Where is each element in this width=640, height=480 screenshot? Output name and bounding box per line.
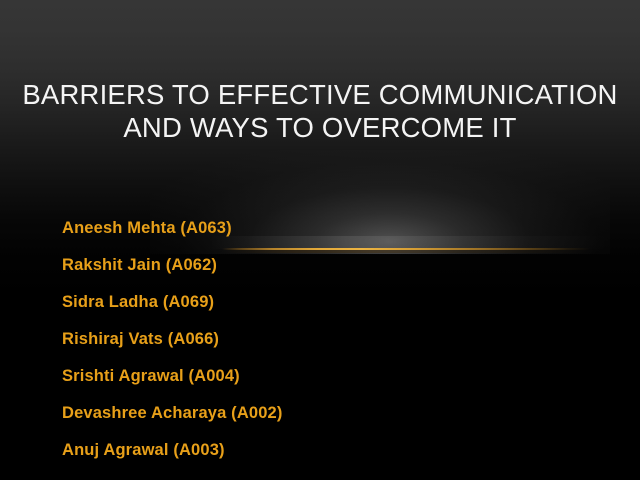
page-title-line-2: AND WAYS TO OVERCOME IT: [0, 111, 640, 144]
list-item: Aneesh Mehta (A063): [62, 210, 542, 247]
author-list: Aneesh Mehta (A063) Rakshit Jain (A062) …: [62, 210, 542, 469]
title-slide: BARRIERS TO EFFECTIVE COMMUNICATION AND …: [0, 0, 640, 480]
page-title-line-1: BARRIERS TO EFFECTIVE COMMUNICATION: [0, 78, 640, 111]
list-item: Sidra Ladha (A069): [62, 284, 542, 321]
list-item: Rakshit Jain (A062): [62, 247, 542, 284]
page-title: BARRIERS TO EFFECTIVE COMMUNICATION AND …: [0, 78, 640, 144]
list-item: Rishiraj Vats (A066): [62, 321, 542, 358]
list-item: Srishti Agrawal (A004): [62, 358, 542, 395]
list-item: Devashree Acharaya (A002): [62, 395, 542, 432]
list-item: Anuj Agrawal (A003): [62, 432, 542, 469]
